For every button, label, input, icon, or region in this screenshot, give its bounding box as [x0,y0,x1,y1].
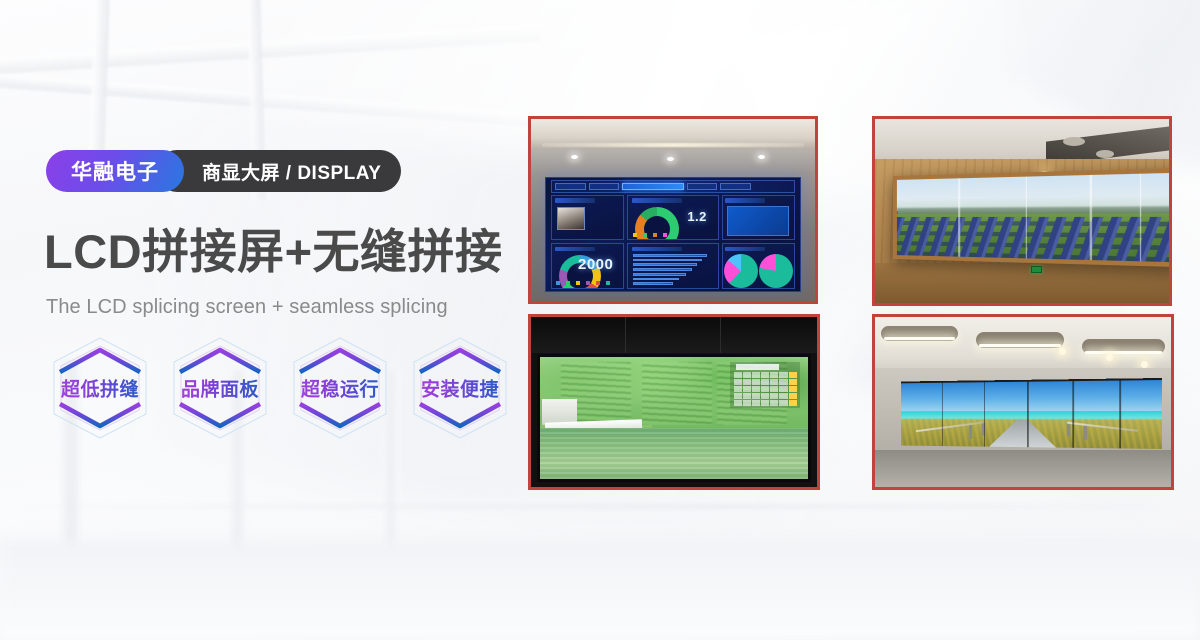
photo-beach-boardwalk-video-wall [875,317,1171,487]
calendar-widget [730,362,800,408]
page-subtitle: The LCD splicing screen + seamless splic… [46,296,448,319]
garden-lake-screen [537,354,812,482]
page-title: LCD拼接屏+无缝拼接 [44,228,503,275]
photo-frame-solar-farm-video-wall [872,116,1172,306]
brand-badge: 华融电子 [46,150,184,192]
photo-frame-garden-lake-video-wall [528,314,820,490]
category-badge: 商显大屏 / DISPLAY [156,150,401,192]
badge-group: 商显大屏 / DISPLAY 华融电子 [46,150,184,192]
feature-badge-label: 超低拼缝 [46,375,154,402]
feature-badge-4: 安装便捷 [406,332,514,444]
feature-badge-label: 超稳运行 [286,375,394,402]
dashboard-screen: 1.2 2000 [545,177,801,292]
feature-badge-list: 超低拼缝 品牌面板 超稳运行 [46,332,514,444]
feature-badge-2: 品牌面板 [166,332,274,444]
feature-badge-label: 安装便捷 [406,375,514,402]
product-banner: 商显大屏 / DISPLAY 华融电子 LCD拼接屏+无缝拼接 The LCD … [0,0,1200,640]
beach-boardwalk-screen [901,378,1162,449]
feature-badge-3: 超稳运行 [286,332,394,444]
photo-garden-lake-video-wall [531,317,817,487]
solar-farm-screen [893,168,1169,267]
feature-badge-label: 品牌面板 [166,375,274,402]
banner-text-column: 商显大屏 / DISPLAY 华融电子 LCD拼接屏+无缝拼接 The LCD … [0,0,520,640]
photo-frame-dashboard-video-wall: 1.2 2000 [528,116,818,304]
feature-badge-1: 超低拼缝 [46,332,154,444]
photo-frame-beach-boardwalk-video-wall [872,314,1174,490]
product-photo-grid: 1.2 2000 [528,116,1176,492]
photo-dashboard-video-wall: 1.2 2000 [531,119,815,301]
photo-solar-farm-video-wall [875,119,1169,303]
